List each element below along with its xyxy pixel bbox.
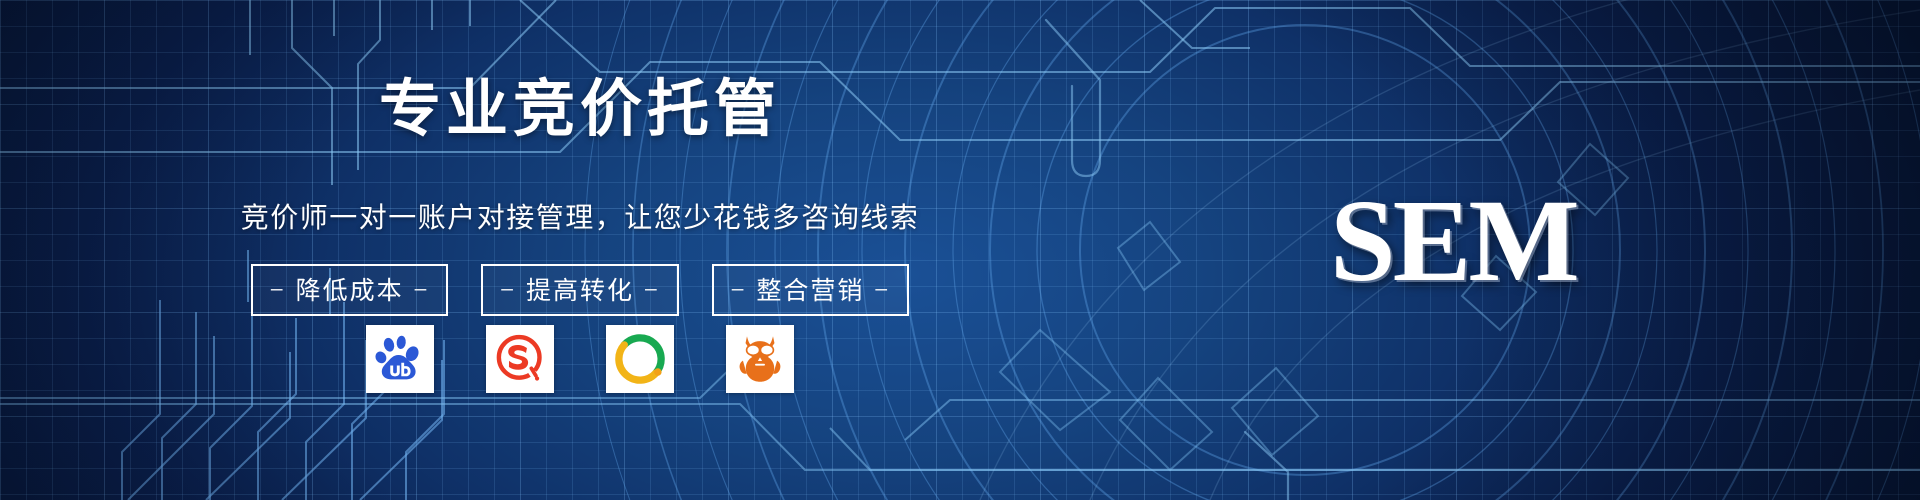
feature-tag-label: 整合营销 bbox=[756, 271, 864, 307]
dash-left-icon: – bbox=[501, 277, 515, 301]
so360-logo bbox=[614, 333, 666, 385]
shenma-logo bbox=[734, 333, 786, 385]
dash-left-icon: – bbox=[732, 277, 746, 301]
dash-right-icon: – bbox=[645, 277, 659, 301]
feature-tag-list: – 降低成本 – – 提高转化 – – 整合营销 – bbox=[0, 264, 1160, 316]
banner-subtitle: 竞价师一对一账户对接管理，让您少花钱多咨询线索 bbox=[0, 196, 1160, 236]
sem-promo-banner: 专业竞价托管 竞价师一对一账户对接管理，让您少花钱多咨询线索 – 降低成本 – … bbox=[0, 0, 1920, 500]
shenma-logo-tile[interactable] bbox=[726, 325, 794, 393]
so360-logo-tile[interactable] bbox=[606, 325, 674, 393]
dash-right-icon: – bbox=[875, 277, 889, 301]
sogou-logo bbox=[494, 333, 546, 385]
feature-tag-label: 提高转化 bbox=[526, 271, 634, 307]
feature-tag-lower-cost[interactable]: – 降低成本 – bbox=[251, 264, 448, 316]
baidu-logo bbox=[374, 333, 426, 385]
banner-content: 专业竞价托管 竞价师一对一账户对接管理，让您少花钱多咨询线索 – 降低成本 – … bbox=[0, 0, 1160, 500]
dash-right-icon: – bbox=[415, 277, 429, 301]
feature-tag-raise-conversion[interactable]: – 提高转化 – bbox=[481, 264, 678, 316]
feature-tag-label: 降低成本 bbox=[296, 271, 404, 307]
sem-wordmark: SEM bbox=[1330, 182, 1750, 300]
baidu-logo-tile[interactable] bbox=[366, 325, 434, 393]
banner-title: 专业竞价托管 bbox=[0, 58, 1160, 148]
feature-tag-integrated-marketing[interactable]: – 整合营销 – bbox=[712, 264, 909, 316]
dash-left-icon: – bbox=[271, 277, 285, 301]
sogou-logo-tile[interactable] bbox=[486, 325, 554, 393]
platform-logo-list bbox=[0, 325, 1160, 393]
